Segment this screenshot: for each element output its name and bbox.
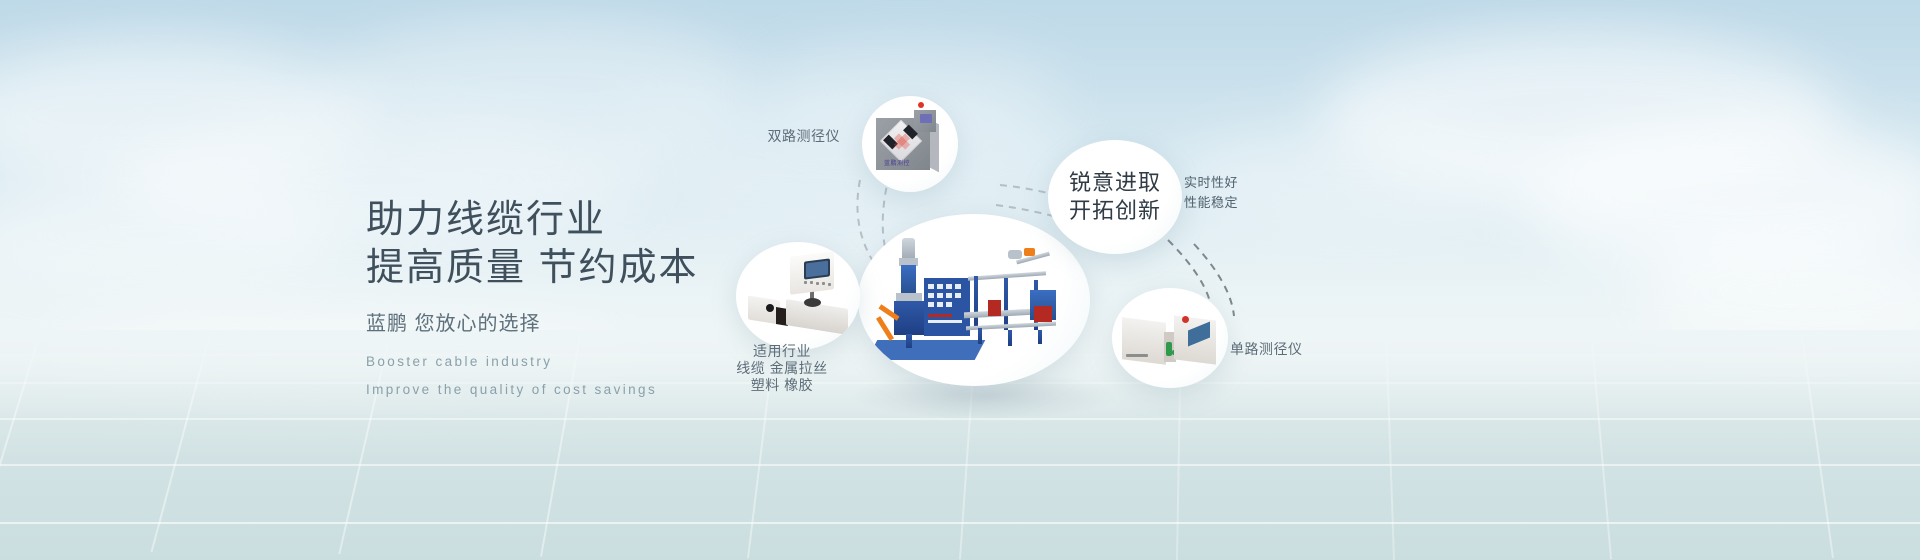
hero-banner: 助力线缆行业 提高质量 节约成本 蓝鹏 您放心的选择 Booster cable… — [0, 0, 1920, 560]
subtitle-english-2: Improve the quality of cost savings — [366, 378, 699, 402]
headline-line-1: 助力线缆行业 — [366, 196, 699, 244]
dual-gauge-bubble: 蓝鹏测控 — [862, 96, 958, 192]
production-line-bubble — [858, 214, 1090, 386]
device-brand-mark: 蓝鹏测控 — [884, 158, 910, 167]
industry-instrument-bubble — [736, 242, 860, 350]
single-gauge-bubble — [1112, 288, 1228, 388]
subtitle-english-1: Booster cable industry — [366, 350, 699, 374]
cloud-decoration — [0, 40, 370, 190]
subtitle-chinese: 蓝鹏 您放心的选择 — [366, 310, 699, 338]
headline-line-2: 提高质量 节约成本 — [366, 244, 699, 292]
cloud-decoration — [0, 180, 340, 290]
slogan-line-2: 开拓创新 — [1048, 196, 1182, 226]
feature-line-2: 性能稳定 — [1184, 192, 1238, 213]
cloud-decoration — [1520, 120, 1920, 270]
label-industry-line-2: 塑料 橡胶 — [682, 375, 882, 395]
headline-copy-block: 助力线缆行业 提高质量 节约成本 蓝鹏 您放心的选择 Booster cable… — [366, 196, 699, 402]
slogan-line-1: 锐意进取 — [1048, 168, 1182, 198]
label-dual-gauge: 双路测径仪 — [680, 126, 840, 146]
feature-line-1: 实时性好 — [1184, 172, 1238, 193]
product-composition: 蓝鹏测控 — [700, 0, 1520, 560]
cloud-decoration — [1640, 230, 1920, 350]
label-single-gauge: 单路测径仪 — [1230, 339, 1303, 359]
